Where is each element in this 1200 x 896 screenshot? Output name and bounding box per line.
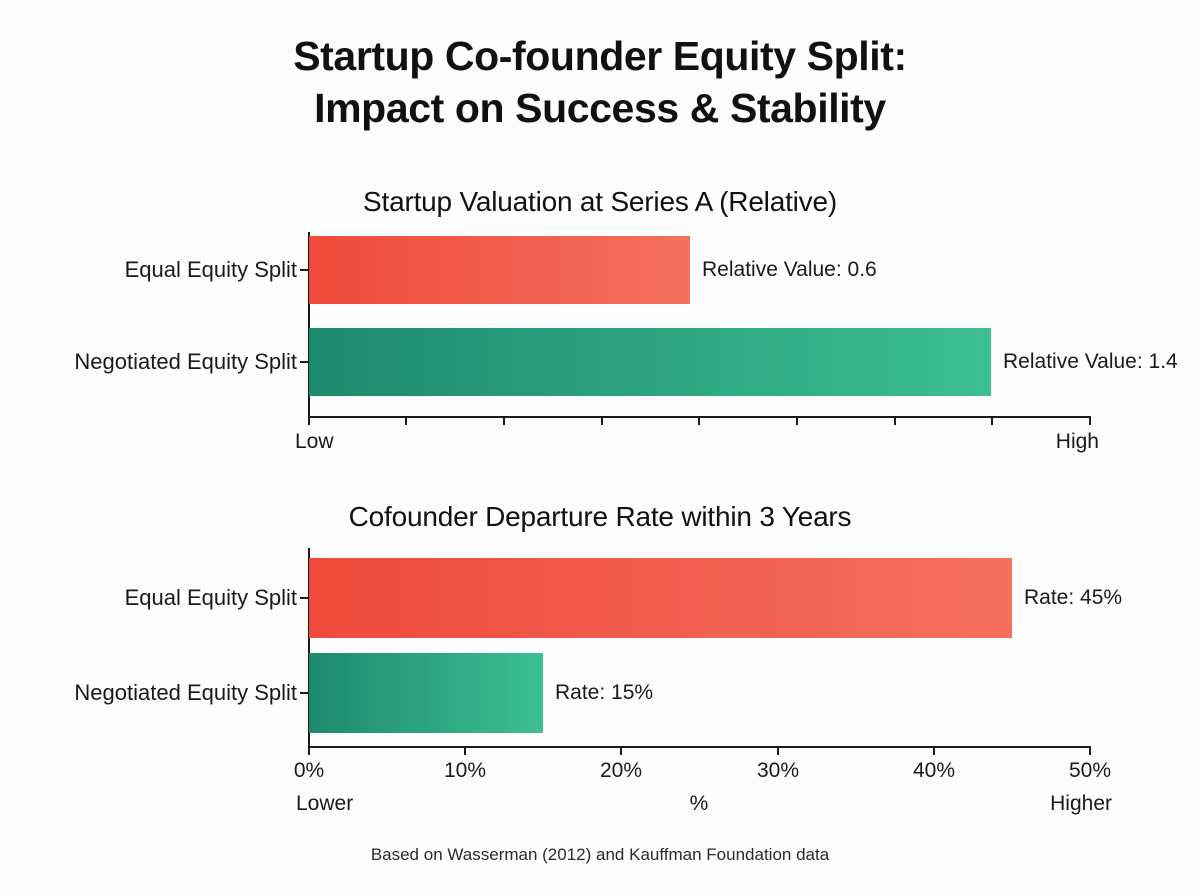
x-axis-start-label: Lower xyxy=(296,792,353,816)
x-tick-icon xyxy=(1089,416,1091,425)
bar-value-label: Rate: 45% xyxy=(1024,586,1122,610)
x-tick-label: 40% xyxy=(913,759,955,783)
x-tick-label: 50% xyxy=(1069,759,1111,783)
x-tick-label: 30% xyxy=(757,759,799,783)
x-axis-end-label: High xyxy=(1056,430,1099,454)
y-tick-icon xyxy=(300,597,309,599)
panel-departure-plot: Equal Equity Split Rate: 45% Negotiated … xyxy=(309,548,1090,748)
x-tick-icon xyxy=(796,416,798,425)
x-axis-start-label: Low xyxy=(295,430,334,454)
x-tick-label: 20% xyxy=(600,759,642,783)
bar-departure-equal[interactable] xyxy=(309,558,1012,638)
x-tick-icon xyxy=(620,746,622,755)
x-tick-icon xyxy=(405,416,407,425)
x-tick-label: 10% xyxy=(444,759,486,783)
x-axis-end-label: Higher xyxy=(1050,792,1112,816)
x-tick-icon xyxy=(991,416,993,425)
x-tick-icon xyxy=(601,416,603,425)
bar-departure-negotiated[interactable] xyxy=(309,653,543,733)
x-tick-icon xyxy=(464,746,466,755)
y-tick-icon xyxy=(300,692,309,694)
x-axis-title: % xyxy=(690,792,709,816)
figure-footer: Based on Wasserman (2012) and Kauffman F… xyxy=(0,845,1200,865)
y-tick-icon xyxy=(300,361,309,363)
bar-value-label: Rate: 15% xyxy=(555,681,653,705)
bar-row: Negotiated Equity Split Rate: 15% xyxy=(309,653,1090,733)
x-tick-icon xyxy=(1089,746,1091,755)
x-tick-icon xyxy=(503,416,505,425)
panel-departure: Cofounder Departure Rate within 3 Years … xyxy=(0,0,1200,360)
x-tick-icon xyxy=(894,416,896,425)
x-tick-icon xyxy=(698,416,700,425)
x-tick-icon xyxy=(308,416,310,425)
category-label: Equal Equity Split xyxy=(125,585,297,611)
category-label: Negotiated Equity Split xyxy=(74,680,297,706)
x-tick-icon xyxy=(933,746,935,755)
chart-figure: Startup Co-founder Equity Split: Impact … xyxy=(0,0,1200,896)
x-tick-label: 0% xyxy=(294,759,324,783)
x-tick-icon xyxy=(777,746,779,755)
x-axis-line-2 xyxy=(308,746,1091,748)
panel-departure-title: Cofounder Departure Rate within 3 Years xyxy=(0,501,1200,533)
x-tick-icon xyxy=(308,746,310,755)
bar-row: Equal Equity Split Rate: 45% xyxy=(309,558,1090,638)
